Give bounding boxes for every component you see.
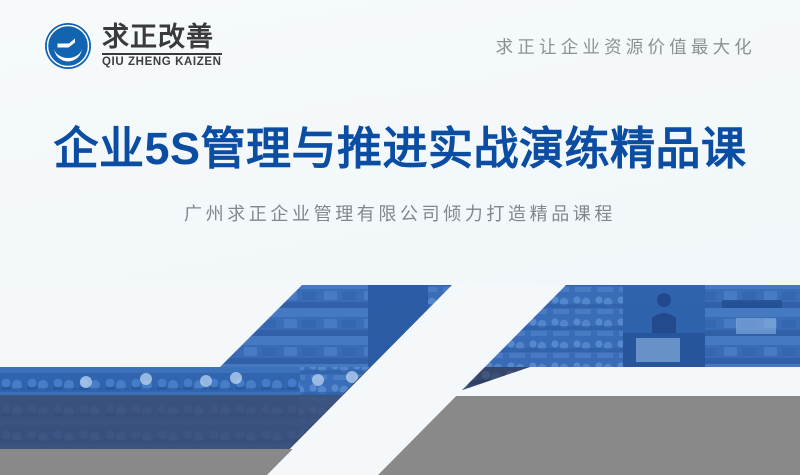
brand-logo[interactable]: 求正改善 QIU ZHENG KAIZEN [44,22,222,70]
brand-divider [102,53,222,55]
page-subtitle: 广州求正企业管理有限公司倾力打造精品课程 [0,200,800,226]
brand-tagline: 求正让企业资源价值最大化 [496,34,756,59]
poster-header: 求正改善 QIU ZHENG KAIZEN 求正让企业资源价值最大化 [0,0,800,92]
page-title: 企业5S管理与推进实战演练精品课 [0,124,800,174]
circular-swoosh-emblem-icon [44,22,92,70]
poster-canvas: 求正改善 QIU ZHENG KAIZEN 求正让企业资源价值最大化 企业5S管… [0,0,800,475]
brand-name-en: QIU ZHENG KAIZEN [102,57,222,69]
hero-text-block: 企业5S管理与推进实战演练精品课 广州求正企业管理有限公司倾力打造精品课程 [0,124,800,226]
brand-name-cn: 求正改善 [102,23,214,51]
brand-wordmark: 求正改善 QIU ZHENG KAIZEN [102,23,222,69]
